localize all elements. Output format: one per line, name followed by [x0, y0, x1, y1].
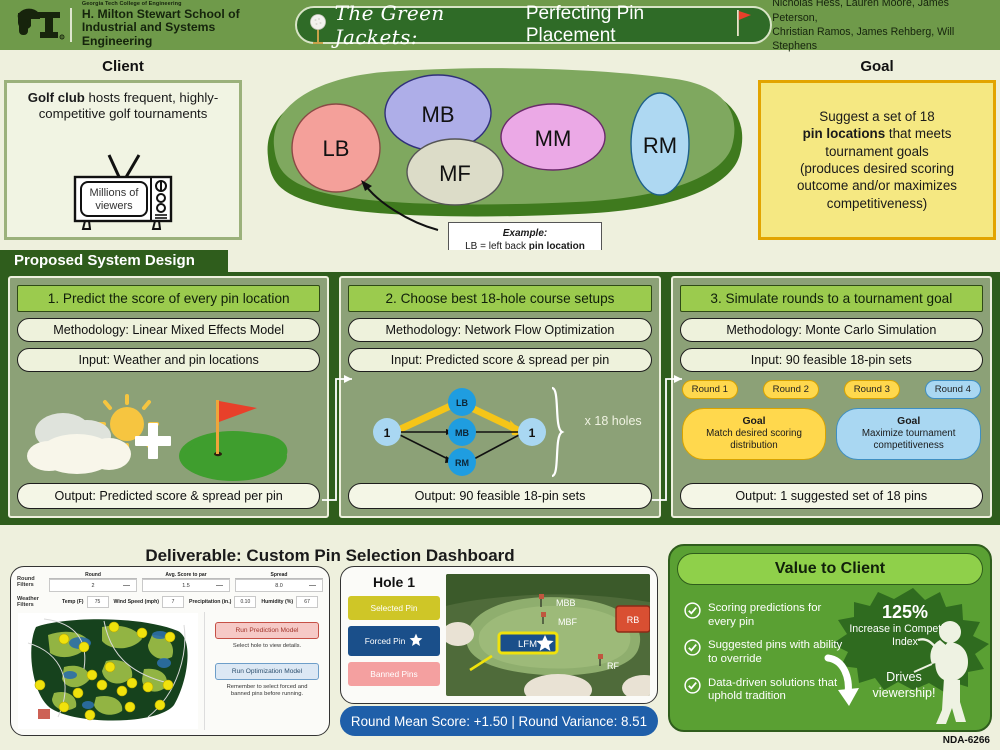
temp-input[interactable]: 75 [87, 596, 109, 608]
authors-line-2: Christian Ramos, James Rehberg, Will Ste… [772, 25, 988, 54]
band-notch [228, 250, 1000, 272]
system-design-title: Proposed System Design [14, 252, 195, 269]
optimization-note: Remember to select forced and banned pin… [217, 684, 317, 699]
team-name-script: The Green Jackets: [335, 1, 521, 49]
run-prediction-model-button[interactable]: Run Prediction Model [215, 622, 319, 639]
header-bar: R Georgia Tech College of Engineering H.… [0, 0, 1000, 50]
list-item: Scoring predictions for every pin [684, 602, 844, 629]
humidity-field[interactable]: Humidity (%) 67 [261, 596, 318, 608]
pin-label-MF: MF [439, 161, 471, 186]
list-item: Suggested pins with ability to override [684, 639, 844, 666]
legend-selected-pin[interactable]: Selected Pin [348, 596, 440, 620]
course-map-container[interactable] [11, 612, 204, 730]
wind-input[interactable]: 7 [162, 596, 184, 608]
poster-root: R Georgia Tech College of Engineering H.… [0, 0, 1000, 750]
poster-title-pill: The Green Jackets: Perfecting Pin Placem… [295, 6, 773, 44]
television-icon: Millions of viewers [63, 153, 183, 236]
round-select-caption: Round [49, 572, 137, 579]
marker-RF: RF [607, 661, 619, 671]
tv-line-1: Millions of [90, 187, 140, 199]
hole-title: Hole 1 [348, 574, 440, 590]
round-select-group: Round 2 [49, 572, 137, 592]
school-name: Georgia Tech College of Engineering H. M… [82, 1, 277, 48]
check-circle-icon [684, 677, 701, 699]
round-filters-label: Round Filters [17, 576, 44, 588]
legend-banned-label: Banned Pins [370, 669, 418, 679]
svg-text:RB: RB [627, 615, 640, 625]
tv-line-2: viewers [95, 200, 133, 212]
client-title: Client [4, 58, 242, 75]
client-bold: Golf club [28, 90, 85, 105]
dashboard-body: Run Prediction Model Select hole to view… [11, 612, 329, 730]
hole-aerial-image[interactable]: MBB MBF RF RB LFM [446, 574, 650, 696]
round-select[interactable]: 2 [49, 579, 137, 592]
temp-field[interactable]: Temp (F) 75 [62, 596, 109, 608]
spread-group: Spread 8.0 [235, 572, 323, 592]
list-item: Data-driven solutions that uphold tradit… [684, 677, 844, 704]
golfer-silhouette-icon [910, 618, 984, 726]
goal-box: Suggest a set of 18 pin locations that m… [758, 80, 996, 240]
pin-label-RM: RM [643, 133, 677, 158]
green-pin-diagram: LB MB MF MM RM Example: LB = left back p… [248, 62, 753, 262]
golf-ball-icon [307, 14, 329, 36]
page-title: Perfecting Pin Placement [526, 3, 724, 47]
course-map-image [18, 613, 198, 729]
author-list: Nicholas Hess, Lauren Moore, James Peter… [772, 0, 988, 54]
goal-title: Goal [758, 58, 996, 75]
wind-label: Wind Speed (mph) [114, 599, 159, 605]
precip-input[interactable]: 0.10 [234, 596, 256, 608]
legend-forced-pin[interactable]: Forced Pin [348, 626, 440, 656]
goal-line-5: outcome and/or maximizes [797, 178, 957, 193]
dashboard-filters-panel: Round Filters Round 2 Avg. Score to par … [10, 566, 330, 736]
spread-select[interactable]: 8.0 [235, 579, 323, 592]
client-box: Golf club hosts frequent, highly-competi… [4, 80, 242, 240]
pin-label-MB: MB [422, 102, 455, 127]
school-line-1: H. Milton Stewart School of [82, 8, 277, 22]
hole-detail-panel: Hole 1 Selected Pin Forced Pin Banned Pi… [340, 566, 658, 704]
value-title: Value to Client [677, 553, 983, 585]
legend-forced-label: Forced Pin [365, 636, 406, 646]
goal-line-6: competitiveness) [827, 196, 927, 211]
benefit-text-1: Scoring predictions for every pin [708, 602, 844, 629]
round-filter-row: Round Filters Round 2 Avg. Score to par … [17, 572, 323, 592]
star-icon [409, 633, 423, 649]
deliverable-title: Deliverable: Custom Pin Selection Dashbo… [0, 546, 660, 566]
check-circle-icon [684, 639, 701, 661]
marker-MBB: MBB [556, 598, 576, 608]
nda-number: NDA-6266 [943, 735, 990, 746]
goal-line-2: that meets [885, 126, 951, 141]
legend-banned-pins[interactable]: Banned Pins [348, 662, 440, 686]
avg-score-caption: Avg. Score to par [142, 572, 230, 579]
round-score-bar: Round Mean Score: +1.50 | Round Variance… [340, 706, 658, 736]
run-optimization-model-button[interactable]: Run Optimization Model [215, 663, 319, 680]
pin-label-LB: LB [323, 136, 350, 161]
golf-flag-icon [734, 8, 754, 43]
goal-statement: Suggest a set of 18 pin locations that m… [789, 108, 965, 213]
value-to-client-panel: Value to Client 125% Increase in Competi… [668, 544, 992, 732]
client-statement: Golf club hosts frequent, highly-competi… [7, 83, 239, 122]
check-circle-icon [684, 602, 701, 624]
hole-legend: Hole 1 Selected Pin Forced Pin Banned Pi… [348, 574, 440, 696]
benefit-text-3: Data-driven solutions that uphold tradit… [708, 677, 844, 704]
precip-label: Precipitation (in.) [189, 599, 231, 605]
precip-field[interactable]: Precipitation (in.) 0.10 [189, 596, 256, 608]
goal-line-4: (produces desired scoring [800, 161, 954, 176]
marker-MBF: MBF [558, 617, 578, 627]
pin-label-MM: MM [535, 126, 572, 151]
benefit-text-2: Suggested pins with ability to override [708, 639, 844, 666]
humidity-input[interactable]: 67 [296, 596, 318, 608]
weather-filters-label: Weather Filters [17, 596, 57, 608]
goal-line-3: tournament goals [825, 144, 928, 159]
prediction-note: Select hole to view details. [217, 643, 317, 651]
dashboard-actions: Run Prediction Model Select hole to view… [204, 612, 329, 730]
avg-score-group: Avg. Score to par 1.5 [142, 572, 230, 592]
svg-text:LFM: LFM [518, 639, 537, 650]
goal-bold: pin locations [803, 126, 886, 141]
flow-connectors [0, 276, 1000, 518]
goal-section: Goal Suggest a set of 18 pin locations t… [758, 58, 996, 240]
callout-title: Example: [452, 227, 598, 240]
avg-score-select[interactable]: 1.5 [142, 579, 230, 592]
legend-selected-label: Selected Pin [370, 603, 417, 613]
filter-area: Round Filters Round 2 Avg. Score to par … [11, 567, 329, 608]
weather-filter-row: Weather Filters Temp (F) 75 Wind Speed (… [17, 596, 323, 608]
school-line-2: Industrial and Systems Engineering [82, 21, 277, 48]
goal-line-1: Suggest a set of 18 [819, 109, 934, 124]
humidity-label: Humidity (%) [261, 599, 293, 605]
temp-label: Temp (F) [62, 599, 84, 605]
wind-field[interactable]: Wind Speed (mph) 7 [114, 596, 184, 608]
spread-caption: Spread [235, 572, 323, 579]
value-benefit-list: Scoring predictions for every pin Sugges… [684, 602, 844, 714]
georgia-tech-logo-icon: R [16, 8, 66, 42]
authors-line-1: Nicholas Hess, Lauren Moore, James Peter… [772, 0, 988, 25]
client-section: Client Golf club hosts frequent, highly-… [4, 58, 242, 240]
logo-divider [70, 8, 72, 42]
